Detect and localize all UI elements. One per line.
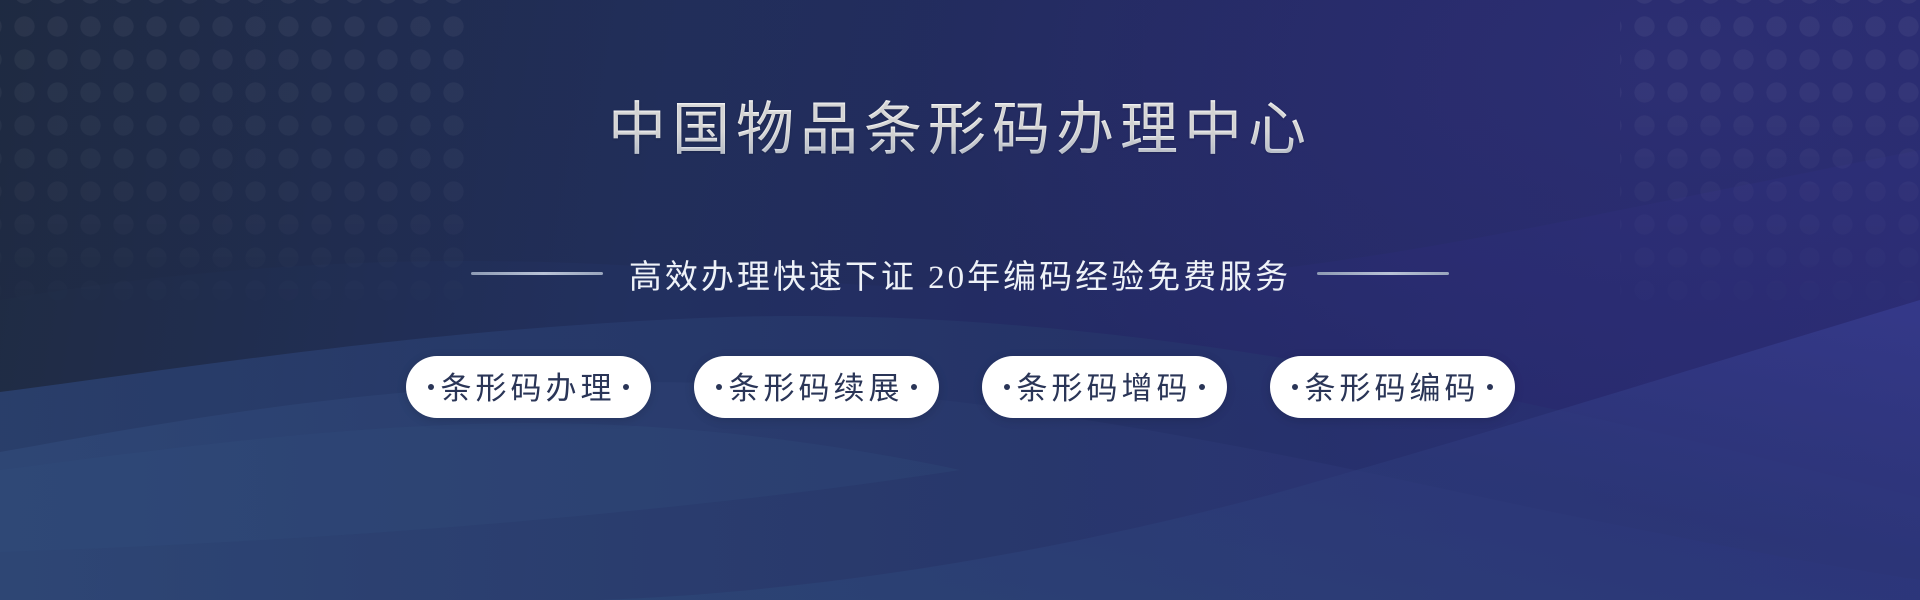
divider-line-right bbox=[1317, 272, 1449, 275]
bullet-dot-icon bbox=[1292, 384, 1298, 390]
divider-line-left bbox=[471, 272, 603, 275]
service-pill-label: 条形码增码 bbox=[1017, 363, 1192, 411]
service-pill-label: 条形码办理 bbox=[441, 363, 616, 411]
bullet-dot-icon bbox=[428, 384, 434, 390]
service-pill-row: 条形码办理 条形码续展 条形码增码 条形码编码 bbox=[406, 356, 1515, 418]
service-pill-barcode-renew[interactable]: 条形码续展 bbox=[694, 356, 939, 418]
subtitle-row: 高效办理快速下证 20年编码经验免费服务 bbox=[471, 250, 1449, 298]
service-pill-label: 条形码续展 bbox=[729, 363, 904, 411]
banner-content: 中国物品条形码办理中心 高效办理快速下证 20年编码经验免费服务 条形码办理 条… bbox=[0, 0, 1920, 600]
service-pill-barcode-add[interactable]: 条形码增码 bbox=[982, 356, 1227, 418]
bullet-dot-icon bbox=[1004, 384, 1010, 390]
bullet-dot-icon bbox=[1487, 384, 1493, 390]
service-pill-barcode-encode[interactable]: 条形码编码 bbox=[1270, 356, 1515, 418]
hero-banner: 中国物品条形码办理中心 高效办理快速下证 20年编码经验免费服务 条形码办理 条… bbox=[0, 0, 1920, 600]
bullet-dot-icon bbox=[716, 384, 722, 390]
service-pill-barcode-apply[interactable]: 条形码办理 bbox=[406, 356, 651, 418]
bullet-dot-icon bbox=[623, 384, 629, 390]
bullet-dot-icon bbox=[911, 384, 917, 390]
bullet-dot-icon bbox=[1199, 384, 1205, 390]
subtitle-text: 高效办理快速下证 20年编码经验免费服务 bbox=[629, 250, 1291, 298]
service-pill-label: 条形码编码 bbox=[1305, 363, 1480, 411]
page-title: 中国物品条形码办理中心 bbox=[608, 98, 1312, 162]
